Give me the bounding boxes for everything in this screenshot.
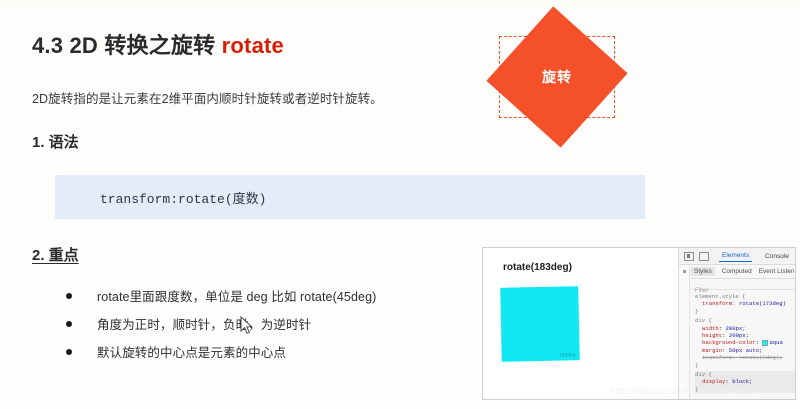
devtools-page-title: rotate(183deg) <box>503 262 572 273</box>
css-declaration-overridden[interactable]: transform: rotate(0deg); <box>695 354 795 361</box>
list-item: 角度为正时，顺时针，负时，为逆时针 <box>66 314 466 333</box>
devtools-left-rail <box>679 265 690 399</box>
tab-elements[interactable]: Elements <box>719 250 752 262</box>
bullet-dot-icon <box>66 293 72 299</box>
code-block: transform:rotate(度数) <box>55 175 645 219</box>
devtools-screenshot: rotate(183deg) 183deg Elements Console S… <box>482 247 796 400</box>
rotate-demo: 旋转 <box>499 36 615 118</box>
css-selector: div { <box>695 317 712 324</box>
top-strip <box>0 0 800 5</box>
tab-console[interactable]: Console <box>762 251 792 262</box>
devtools-subtabs: Styles Computed Event Listen <box>691 265 796 279</box>
css-value: rotate(173deg) <box>739 300 786 307</box>
css-declaration[interactable]: transform: rotate(173deg) <box>695 300 795 307</box>
devtools-page-preview: rotate(183deg) 183deg <box>483 248 679 399</box>
devtools-toolbar: Elements Console <box>679 248 795 265</box>
bullet-dot-icon <box>66 321 72 327</box>
css-declaration[interactable]: width: 200px; <box>695 325 795 332</box>
bullet-dot-icon <box>66 349 72 355</box>
page-title-prefix: 4.3 2D 转换之旋转 <box>32 33 222 58</box>
rotate-demo-square: 旋转 <box>486 6 627 147</box>
list-item: rotate里面跟度数，单位是 deg 比如 rotate(45deg) <box>66 286 466 305</box>
css-selector: div { <box>695 371 712 378</box>
css-value: 50px auto; <box>729 347 763 354</box>
section-heading-keypoints: 2. 重点 <box>32 244 79 265</box>
css-selector: element.style { <box>695 293 745 300</box>
css-value: block; <box>732 378 752 385</box>
css-rule-close: } <box>695 362 698 369</box>
subtab-styles[interactable]: Styles <box>691 267 715 276</box>
list-item-label: 默认旋转的中心点是元素的中心点 <box>97 342 286 361</box>
css-property: height <box>702 332 722 339</box>
devtools-style-filter[interactable]: Filter <box>691 279 796 290</box>
devtools-panel: Elements Console Styles Computed Event L… <box>679 248 795 399</box>
intro-paragraph: 2D旋转指的是让元素在2维平面内顺时针旋转或者逆时针旋转。 <box>32 88 383 107</box>
css-value: rotate(0deg); <box>739 354 783 361</box>
page-title: 4.3 2D 转换之旋转 rotate <box>32 28 284 60</box>
subtab-event-listeners[interactable]: Event Listen <box>759 268 795 275</box>
css-property: background-color <box>702 339 756 346</box>
css-rule: element.style { transform: rotate(173deg… <box>695 293 795 315</box>
page-title-keyword: rotate <box>222 33 284 58</box>
css-value: 200px; <box>729 332 749 339</box>
css-value: 200px; <box>726 325 746 332</box>
css-property: transform <box>702 300 732 307</box>
watermark: https://blog.csdn.net/fliangmingxin <box>610 386 756 396</box>
subtab-computed[interactable]: Computed <box>722 268 752 275</box>
rail-marker-icon <box>683 270 686 273</box>
css-declaration[interactable]: display: block; <box>695 378 795 385</box>
list-item-label: rotate里面跟度数，单位是 deg 比如 rotate(45deg) <box>97 286 376 305</box>
css-declaration[interactable]: margin: 50px auto; <box>695 347 795 354</box>
list-item: 默认旋转的中心点是元素的中心点 <box>66 342 466 361</box>
css-property: margin <box>702 347 722 354</box>
css-property: width <box>702 325 719 332</box>
inspect-element-icon[interactable] <box>684 252 694 261</box>
devtools-aqua-box: 183deg <box>500 286 580 362</box>
section-heading-syntax: 1. 语法 <box>32 131 79 152</box>
list-item-label: 角度为正时，顺时针，负时，为逆时针 <box>97 314 311 333</box>
css-declaration[interactable]: height: 200px; <box>695 332 795 339</box>
keypoints-list: rotate里面跟度数，单位是 deg 比如 rotate(45deg) 角度为… <box>66 286 466 370</box>
css-rule: div { width: 200px; height: 200px; backg… <box>695 317 795 369</box>
css-rule-close: } <box>695 308 698 315</box>
device-toolbar-icon[interactable] <box>699 252 709 261</box>
css-property: display <box>702 378 726 385</box>
code-text: transform:rotate(度数) <box>100 188 266 207</box>
rotate-demo-label: 旋转 <box>542 67 572 87</box>
css-value: aqua <box>769 339 782 346</box>
css-declaration[interactable]: background-color: aqua <box>695 339 795 346</box>
devtools-aqua-box-label: 183deg <box>559 352 576 358</box>
devtools-styles-list: element.style { transform: rotate(173deg… <box>691 290 795 399</box>
css-property: transform <box>702 354 732 361</box>
color-swatch-icon[interactable] <box>762 340 768 346</box>
